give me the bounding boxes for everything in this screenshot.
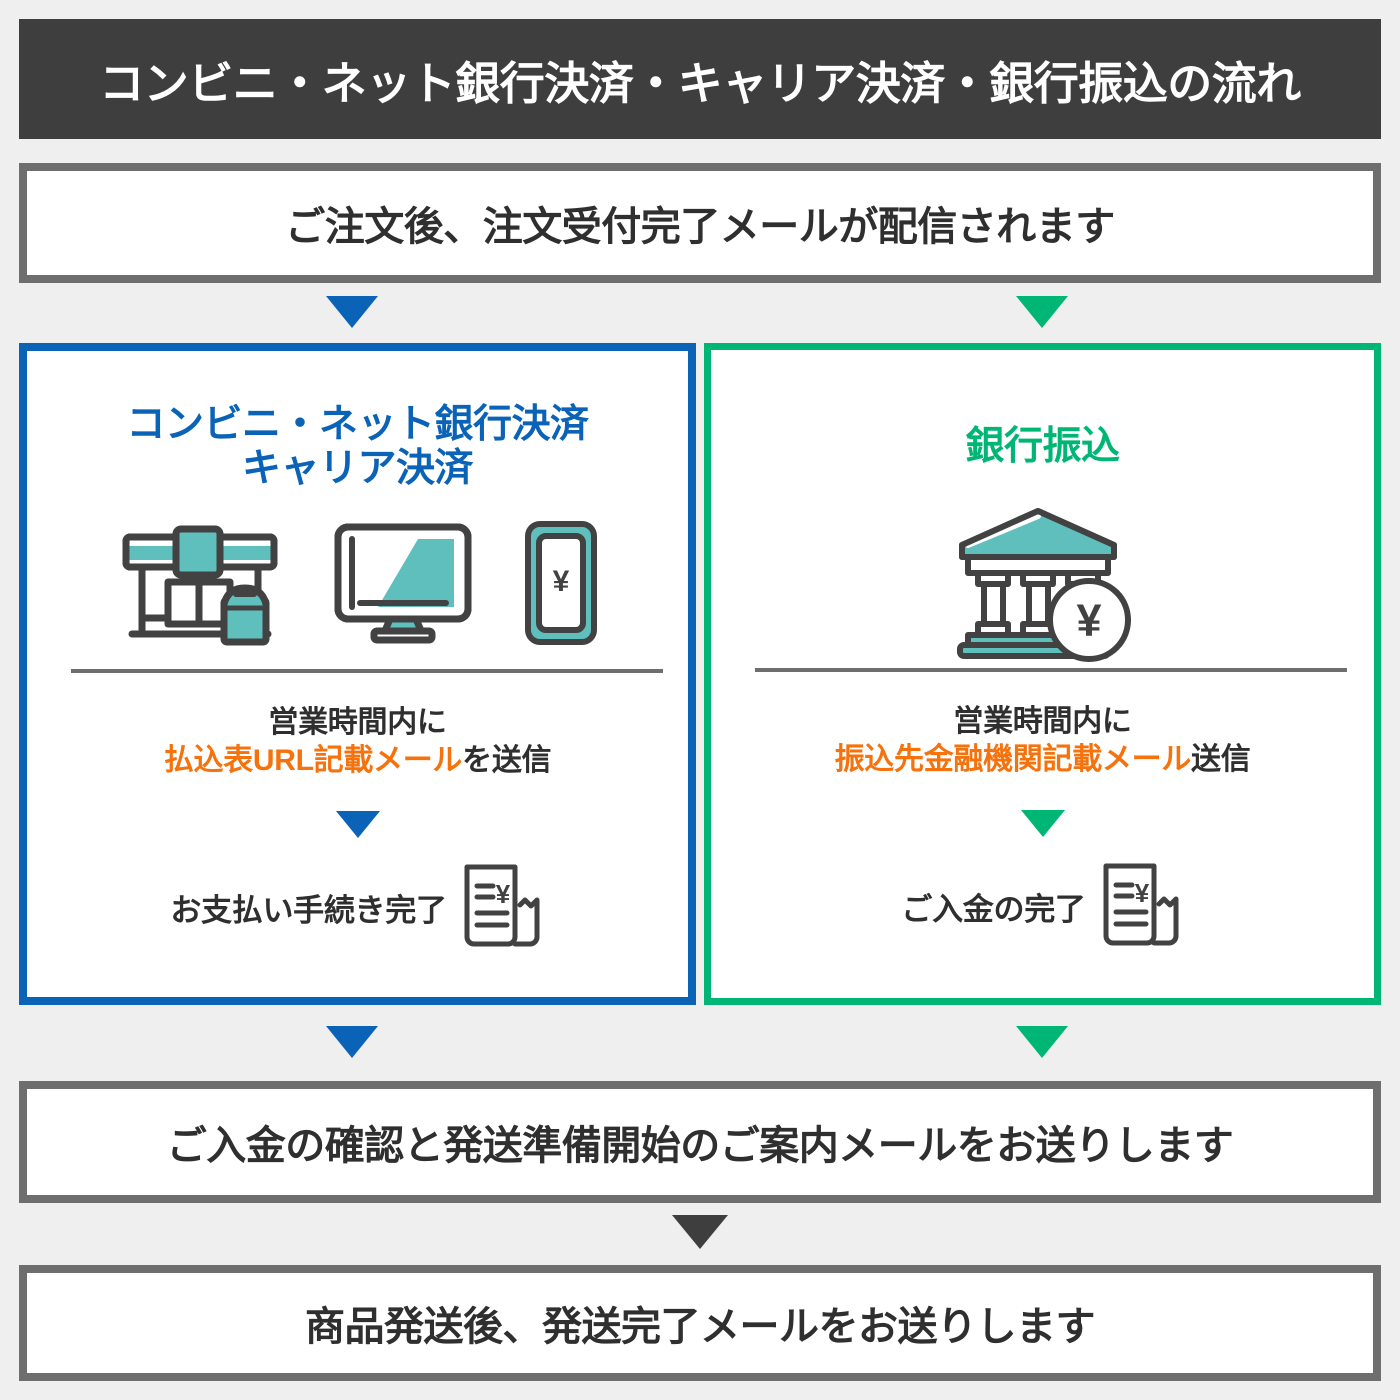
panel-bank-send-highlight: 振込先金融機関記載メール	[835, 743, 1191, 776]
triangle-down-icon-to-conveni	[326, 296, 378, 328]
panel-bank-title-line1: 銀行振込	[711, 425, 1374, 469]
convenience-store-icon	[116, 520, 284, 646]
step-shipped-box: 商品発送後、発送完了メールをお送りします	[19, 1265, 1381, 1381]
panel-conveni-title-line1: コンビニ・ネット銀行決済	[27, 403, 688, 447]
step-payment-confirmed-box: ご入金の確認と発送準備開始のご案内メールをお送りします	[19, 1081, 1381, 1203]
panel-conveni-title-line2: キャリア決済	[27, 447, 688, 491]
smartphone-yen-icon: ¥	[522, 519, 600, 647]
panel-bank-send-text: 営業時間内に 振込先金融機関記載メール送信	[711, 703, 1374, 780]
panel-bank-transfer: 銀行振込	[704, 343, 1381, 1005]
step-shipped-label: 商品発送後、発送完了メールをお送りします	[305, 1294, 1095, 1352]
panel-bank-title: 銀行振込	[711, 425, 1374, 469]
page-title: コンビニ・ネット銀行決済・キャリア決済・銀行振込の流れ	[99, 47, 1301, 112]
panel-bank-divider	[755, 668, 1347, 672]
panel-conveni-title: コンビニ・ネット銀行決済 キャリア決済	[27, 403, 688, 490]
panel-conveni-send-highlight: 払込表URL記載メール	[164, 744, 462, 777]
triangle-down-icon-conveni-step	[336, 811, 380, 838]
triangle-down-icon-bank-step	[1021, 810, 1065, 837]
step-order-received-label: ご注文後、注文受付完了メールが配信されます	[285, 194, 1115, 252]
svg-text:¥: ¥	[1076, 595, 1101, 646]
triangle-down-icon-to-bank	[1016, 296, 1068, 328]
triangle-down-icon-conveni-exit	[326, 1026, 378, 1058]
panel-bank-complete-row: ご入金の完了 ¥	[711, 860, 1374, 952]
panel-conveni-complete-row: お支払い手続き完了 ¥	[27, 861, 688, 953]
panel-conveni-send-prefix: 営業時間内に	[27, 704, 688, 742]
svg-text:¥: ¥	[552, 565, 569, 598]
triangle-down-icon-to-shipped	[672, 1215, 728, 1249]
svg-text:¥: ¥	[495, 879, 510, 909]
panel-bank-send-suffix: 送信	[1191, 743, 1250, 776]
panel-conveni-divider	[71, 669, 663, 673]
receipt-yen-icon: ¥	[1096, 860, 1184, 952]
bank-building-yen-icon: ¥	[948, 505, 1138, 663]
panel-convenience-payment: コンビニ・ネット銀行決済 キャリア決済	[19, 343, 696, 1005]
panel-conveni-send-suffix: を送信	[462, 744, 551, 777]
desktop-monitor-icon	[332, 521, 474, 645]
panel-conveni-send-detail: 払込表URL記載メールを送信	[27, 742, 688, 780]
svg-text:¥: ¥	[1134, 878, 1149, 908]
panel-conveni-send-text: 営業時間内に 払込表URL記載メールを送信	[27, 704, 688, 781]
diagram-header: コンビニ・ネット銀行決済・キャリア決済・銀行振込の流れ	[19, 19, 1381, 139]
panel-bank-icon-row: ¥	[711, 505, 1374, 663]
panel-conveni-complete-label: お支払い手続き完了	[170, 885, 446, 930]
payment-flow-diagram: コンビニ・ネット銀行決済・キャリア決済・銀行振込の流れ ご注文後、注文受付完了メ…	[0, 0, 1400, 1400]
panel-conveni-icon-row: ¥	[27, 519, 688, 647]
panel-bank-send-prefix: 営業時間内に	[711, 703, 1374, 741]
step-payment-confirmed-label: ご入金の確認と発送準備開始のご案内メールをお送りします	[167, 1113, 1234, 1171]
triangle-down-icon-bank-exit	[1016, 1026, 1068, 1058]
step-order-received-box: ご注文後、注文受付完了メールが配信されます	[19, 163, 1381, 283]
panel-bank-send-detail: 振込先金融機関記載メール送信	[711, 741, 1374, 779]
panel-bank-complete-label: ご入金の完了	[901, 884, 1085, 929]
receipt-yen-icon: ¥	[457, 861, 545, 953]
